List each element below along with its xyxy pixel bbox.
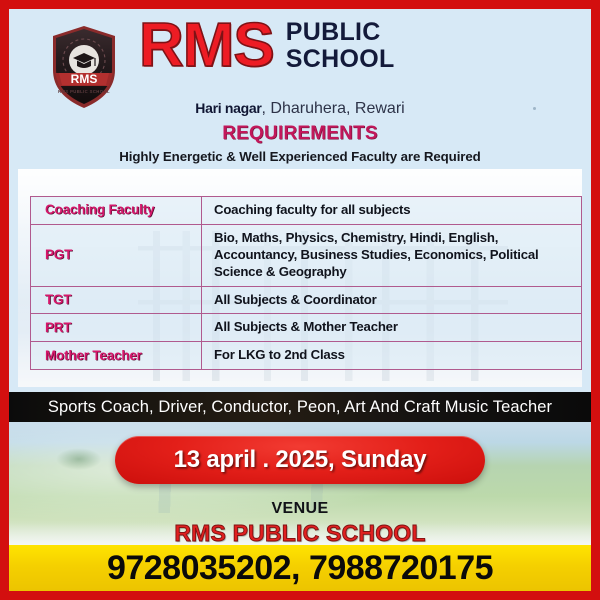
address-locality: Hari nagar (195, 100, 261, 116)
campus-photo-section: 13 april . 2025, Sunday VENUE RMS PUBLIC… (9, 422, 591, 591)
school-logo: RMS RMS PUBLIC SCHOOL (47, 23, 121, 111)
vacancy-role: Mother Teacher (31, 342, 202, 370)
school-title-acronym: RMS (139, 17, 274, 76)
vacancy-panel: Coaching Faculty Coaching faculty for al… (18, 169, 582, 387)
address-rest: , Dharuhera, Rewari (262, 100, 405, 117)
table-row: Coaching Faculty Coaching faculty for al… (31, 197, 582, 225)
school-title-word-school: SCHOOL (286, 46, 395, 73)
poster-inner-frame: RMS RMS PUBLIC SCHOOL RMS PUBLIC SCHOOL … (9, 9, 591, 591)
recruitment-poster: RMS RMS PUBLIC SCHOOL RMS PUBLIC SCHOOL … (0, 0, 600, 600)
vacancy-detail: Bio, Maths, Physics, Chemistry, Hindi, E… (202, 224, 582, 286)
contact-phone-numbers: 9728035202, 7988720175 (107, 549, 493, 588)
interview-date-badge: 13 april . 2025, Sunday (115, 436, 485, 484)
interview-date-text: 13 april . 2025, Sunday (174, 446, 427, 473)
vacancy-role: PGT (31, 224, 202, 286)
table-row: PRT All Subjects & Mother Teacher (31, 314, 582, 342)
vacancy-role: PRT (31, 314, 202, 342)
venue-name: RMS PUBLIC SCHOOL (9, 520, 591, 547)
support-staff-bar: Sports Coach, Driver, Conductor, Peon, A… (9, 392, 591, 422)
vacancy-role: TGT (31, 286, 202, 314)
table-row: Mother Teacher For LKG to 2nd Class (31, 342, 582, 370)
contact-phone-bar: 9728035202, 7988720175 (9, 545, 591, 591)
school-title-words: PUBLIC SCHOOL (286, 19, 395, 73)
vacancy-table: Coaching Faculty Coaching faculty for al… (30, 196, 582, 370)
school-address: Hari nagar, Dharuhera, Rewari (9, 100, 591, 118)
vacancy-detail: Coaching faculty for all subjects (202, 197, 582, 225)
school-title-word-public: PUBLIC (286, 19, 395, 46)
poster-header: RMS RMS PUBLIC SCHOOL RMS PUBLIC SCHOOL … (9, 9, 591, 161)
requirements-subtitle: Highly Energetic & Well Experienced Facu… (9, 149, 591, 164)
vacancy-detail: All Subjects & Coordinator (202, 286, 582, 314)
table-row: PGT Bio, Maths, Physics, Chemistry, Hind… (31, 224, 582, 286)
school-title: RMS PUBLIC SCHOOL (139, 17, 569, 76)
logo-wordmark: RMS (71, 72, 98, 86)
vacancy-role: Coaching Faculty (31, 197, 202, 225)
requirements-heading: REQUIREMENTS (9, 123, 591, 145)
table-row: TGT All Subjects & Coordinator (31, 286, 582, 314)
svg-text:RMS PUBLIC SCHOOL: RMS PUBLIC SCHOOL (58, 89, 110, 94)
venue-label: VENUE (9, 500, 591, 518)
vacancy-detail: For LKG to 2nd Class (202, 342, 582, 370)
vacancy-detail: All Subjects & Mother Teacher (202, 314, 582, 342)
support-staff-text: Sports Coach, Driver, Conductor, Peon, A… (48, 398, 552, 417)
